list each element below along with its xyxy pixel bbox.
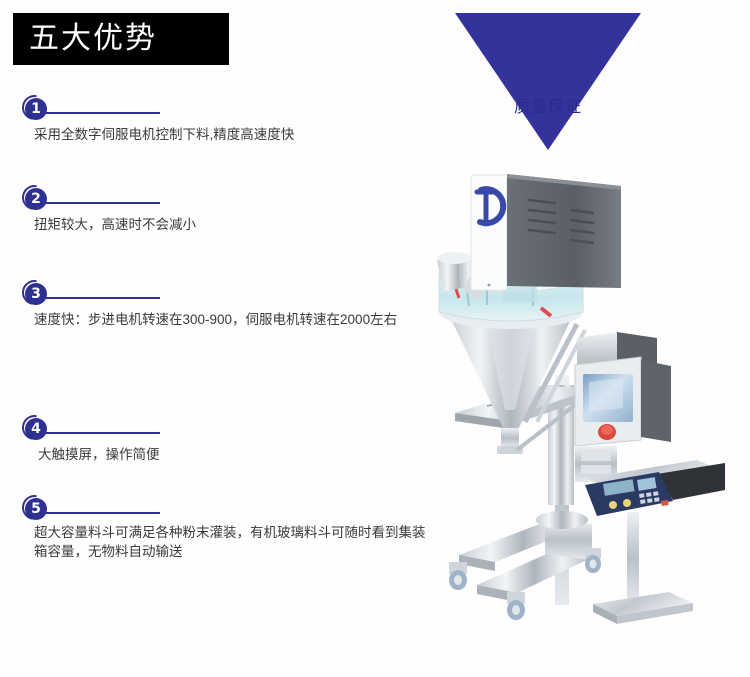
control-cabinet (507, 174, 621, 288)
scale-button (623, 499, 631, 507)
scale-pedestal (627, 512, 639, 604)
advantage-rule (46, 432, 160, 434)
advantage-item: 5 超大容量料斗可满足各种粉末灌装，有机玻璃料斗可随时看到集装箱容量，无物料自动… (0, 495, 440, 525)
pillar-screw (488, 284, 491, 287)
badge-disc: 3 (25, 283, 47, 305)
caster-wheel (449, 562, 467, 590)
screen-side-cover (641, 360, 671, 442)
advantage-rule (46, 297, 160, 299)
advantage-item: 4 大触摸屏，操作简便 (0, 415, 440, 445)
filling-machine-illustration (425, 160, 750, 630)
advantage-header: 2 (0, 185, 440, 215)
badge-number: 3 (31, 287, 41, 301)
badge-disc: 4 (25, 418, 47, 440)
screen-glare (589, 378, 623, 412)
badge-number: 2 (31, 192, 41, 206)
junction-label (581, 452, 611, 461)
funnel-triangle-icon (455, 0, 641, 150)
auger-outlet (501, 428, 519, 448)
advantage-header: 1 (0, 95, 440, 125)
column-foot (536, 511, 588, 529)
advantage-rule (46, 112, 160, 114)
chute-mouth (437, 252, 471, 264)
caster-wheel (507, 592, 525, 620)
number-badge-icon: 2 (22, 185, 47, 210)
junction-label (581, 465, 611, 474)
badge-number: 4 (31, 422, 41, 436)
badge-disc: 5 (25, 498, 47, 520)
weighing-scale (585, 460, 725, 624)
caster-wheel (585, 548, 601, 573)
advantage-rule (46, 202, 160, 204)
advantage-text: 速度快：步进电机转速在300-900，伺服电机转速在2000左右 (34, 310, 434, 329)
advantage-item: 1 采用全数字伺服电机控制下料,精度高速度快 (0, 95, 440, 125)
badge-disc: 2 (25, 188, 47, 210)
scale-button (609, 501, 617, 509)
badge-disc: 1 (25, 98, 47, 120)
advantage-header: 5 (0, 495, 440, 525)
advantage-header: 3 (0, 280, 440, 310)
page-title-banner: 五大优势 (13, 13, 229, 65)
advantage-text: 扭矩较大，高速时不会减小 (34, 215, 434, 234)
page-root: 五大优势 1 采用全数字伺服电机控制下料,精度高速度快 (0, 0, 750, 677)
badge-number: 5 (31, 502, 41, 516)
advantage-text: 采用全数字伺服电机控制下料,精度高速度快 (34, 125, 434, 144)
advantage-rule (46, 512, 160, 514)
number-badge-icon: 3 (22, 280, 47, 305)
badge-number: 1 (31, 102, 41, 116)
number-badge-icon: 5 (22, 495, 47, 520)
advantage-item: 3 速度快：步进电机转速在300-900，伺服电机转速在2000左右 (0, 280, 440, 310)
page-title: 五大优势 (29, 24, 157, 54)
advantage-text: 超大容量料斗可满足各种粉末灌装，有机玻璃料斗可随时看到集装箱容量，无物料自动输送 (34, 523, 434, 561)
product-image (425, 160, 750, 630)
quality-guarantee-label: 质量保证 (455, 93, 641, 117)
advantage-header: 4 (0, 415, 440, 445)
advantage-item: 2 扭矩较大，高速时不会减小 (0, 185, 440, 215)
emergency-stop-inner (601, 425, 613, 435)
advantage-text: 大触摸屏，操作简便 (38, 445, 438, 464)
number-badge-icon: 4 (22, 415, 47, 440)
quality-funnel: 质量保证 (455, 0, 655, 165)
number-badge-icon: 1 (22, 95, 47, 120)
